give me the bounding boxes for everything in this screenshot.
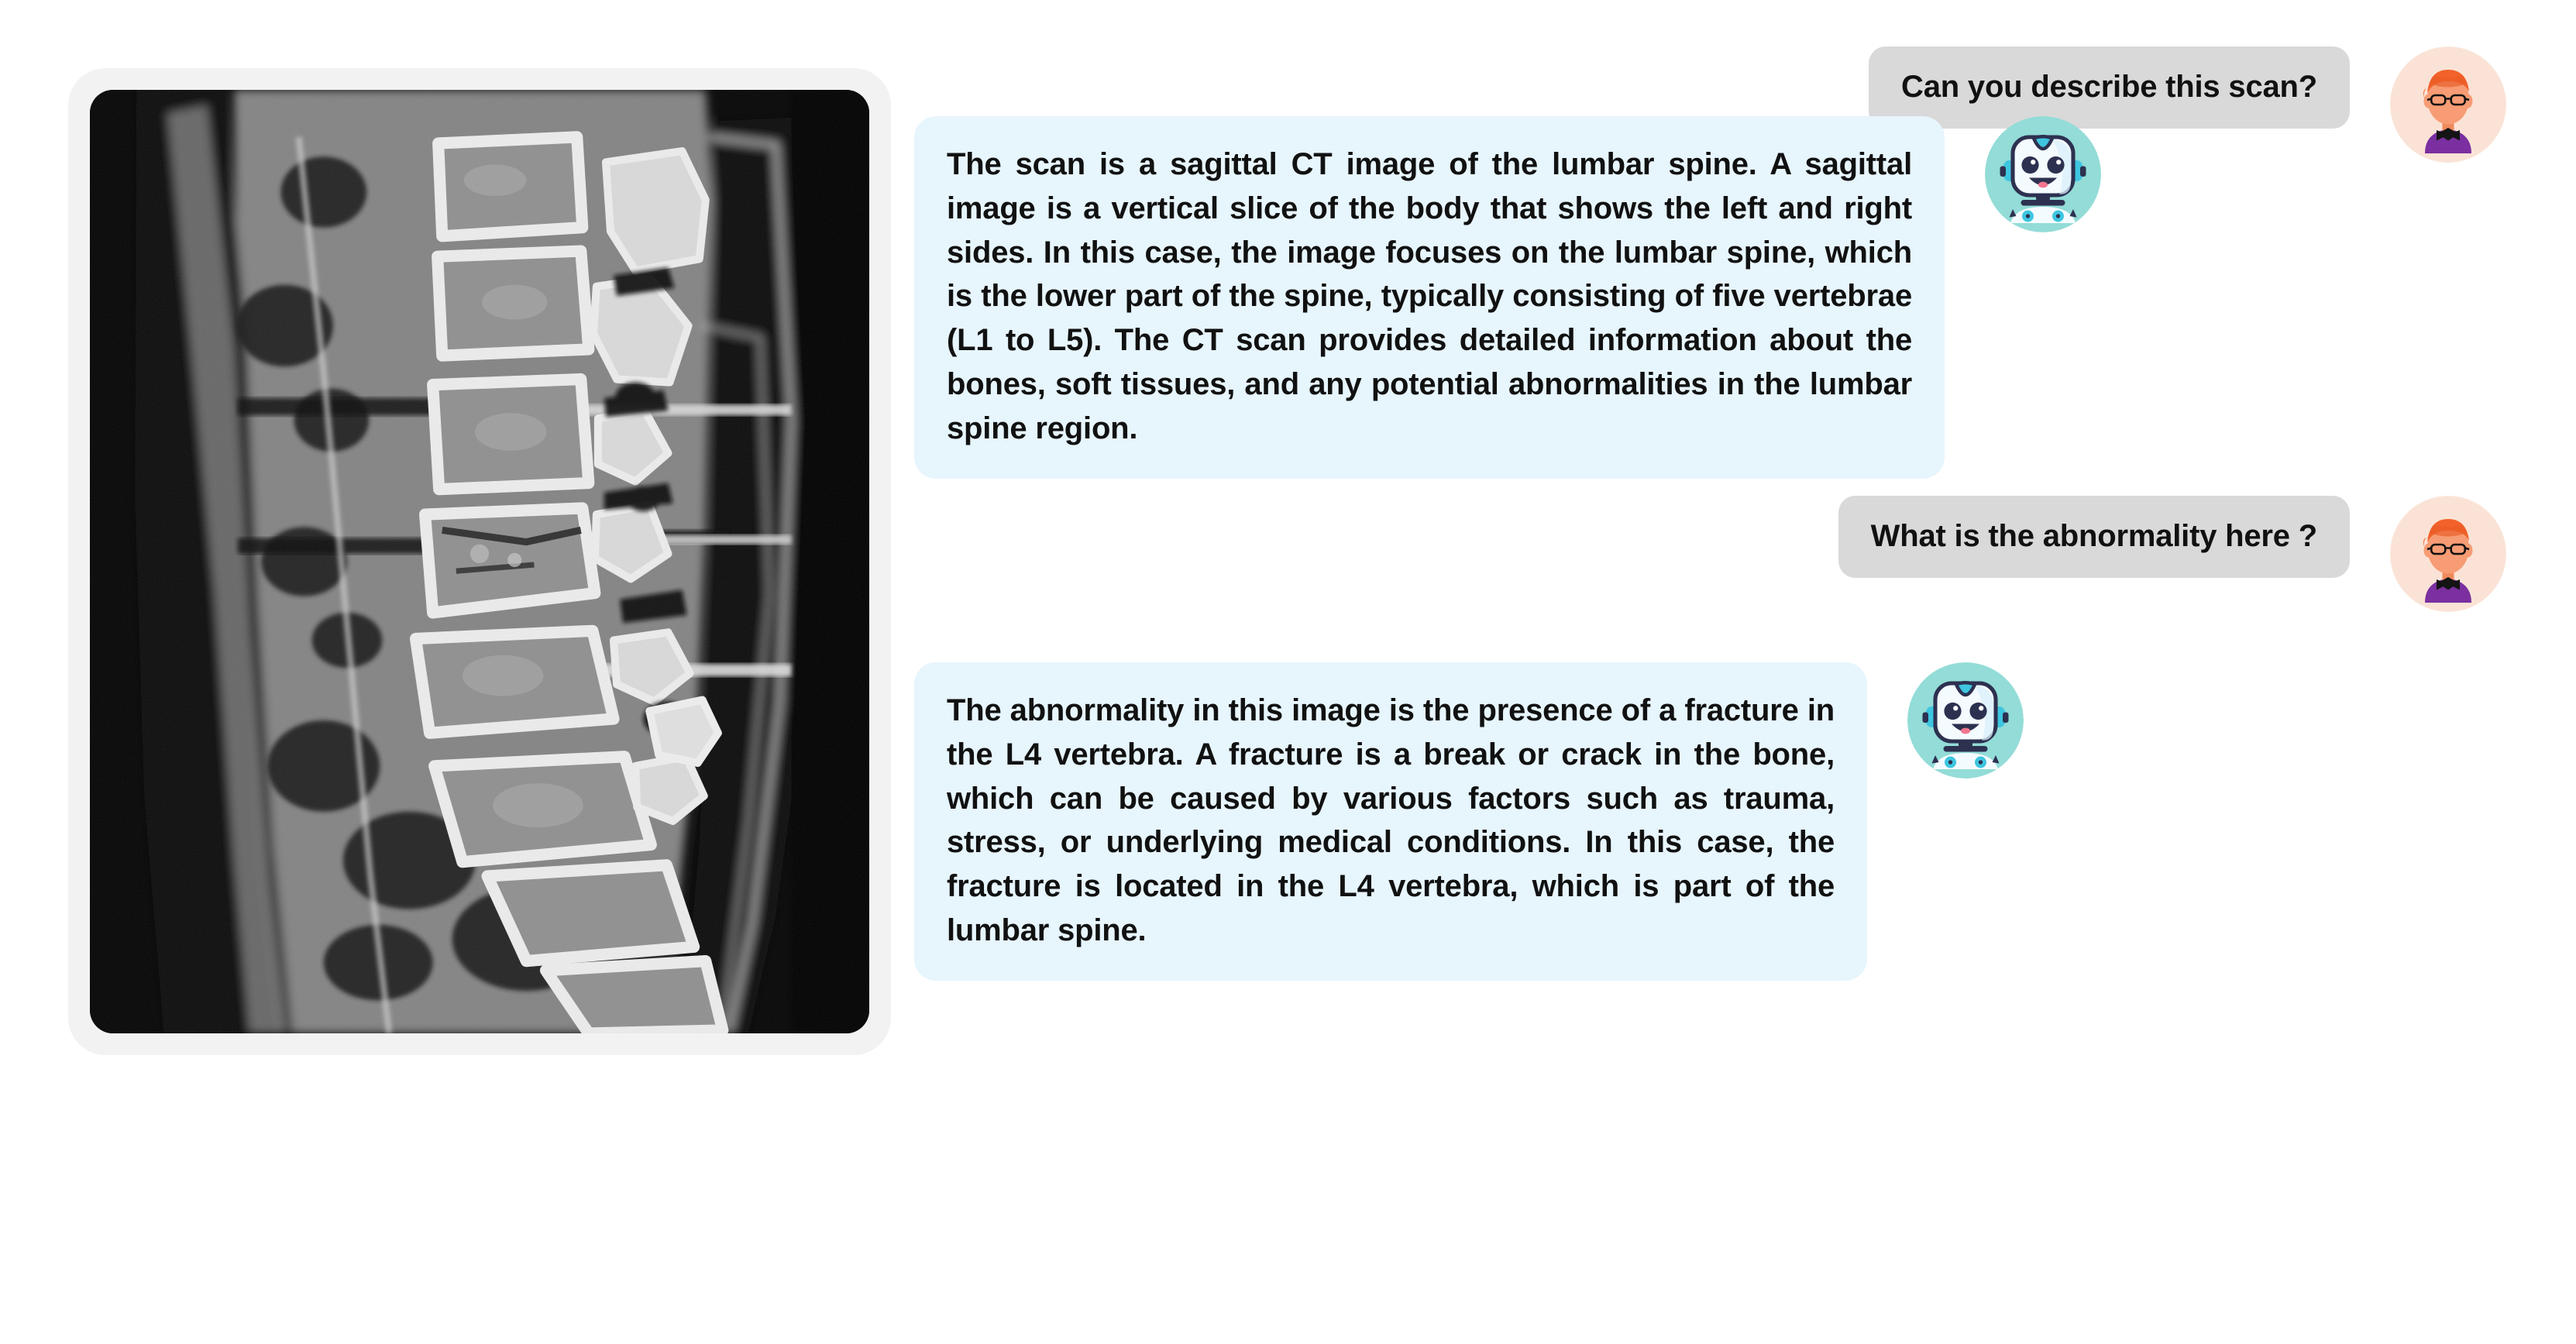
robot-avatar-icon <box>1985 116 2101 232</box>
user-avatar-icon <box>2390 496 2506 612</box>
robot-avatar-icon <box>1907 662 2024 779</box>
message-row-user-2: What is the abnormality here ? <box>914 496 2506 612</box>
robot-avatar[interactable] <box>1985 116 2101 232</box>
robot-avatar[interactable] <box>1907 662 2024 779</box>
chat-thread: Can you describe this scan? <box>914 46 2541 1208</box>
user-avatar[interactable] <box>2390 496 2506 612</box>
bot-message-bubble-2[interactable]: The abnormality in this image is the pre… <box>914 662 1867 981</box>
user-message-bubble-2[interactable]: What is the abnormality here ? <box>1838 496 2350 578</box>
ct-scan-rendering <box>90 90 869 1033</box>
bot-message-bubble-1[interactable]: The scan is a sagittal CT image of the l… <box>914 116 1945 479</box>
message-row-bot-1: The scan is a sagittal CT image of the l… <box>914 116 2506 479</box>
scan-panel <box>68 68 891 1055</box>
message-row-bot-2: The abnormality in this image is the pre… <box>914 662 2506 981</box>
ct-scan-image[interactable] <box>90 90 869 1033</box>
